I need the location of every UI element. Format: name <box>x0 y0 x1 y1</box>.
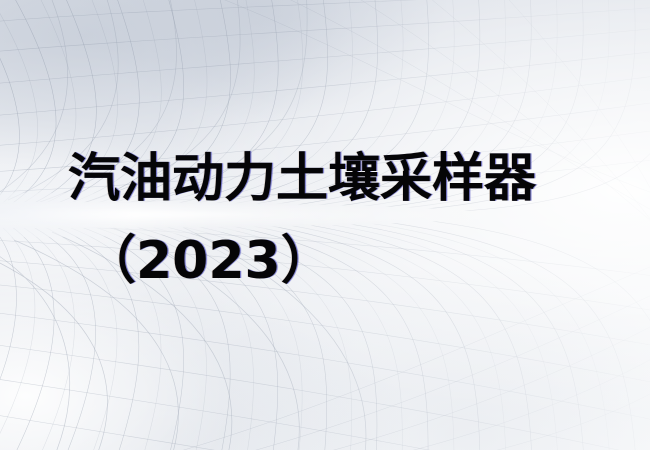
title-slide: 汽油动力土壤采样器 （2023） <box>0 0 650 450</box>
page-title-line-1: 汽油动力土壤采样器 <box>68 150 536 208</box>
page-title-line-2: （2023） <box>84 232 333 290</box>
title-text-block: 汽油动力土壤采样器 （2023） <box>0 0 650 450</box>
